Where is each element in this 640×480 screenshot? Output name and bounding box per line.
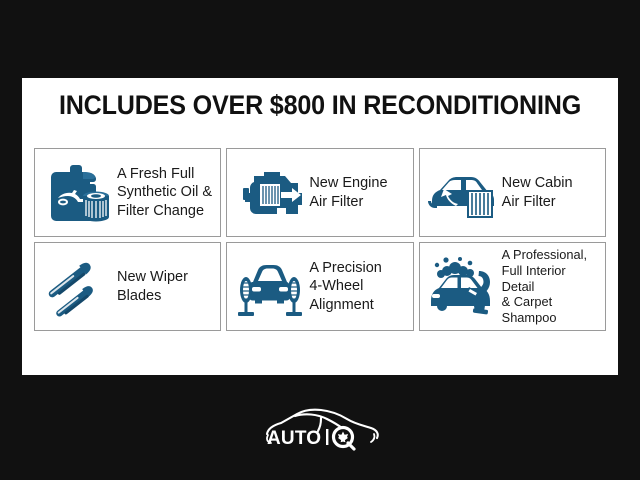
footer: AUTO — [0, 375, 640, 480]
feature-label-line: & Carpet — [502, 294, 599, 310]
feature-label-wiper-blades: New Wiper Blades — [115, 268, 214, 305]
feature-label-wheel-alignment: A Precision 4-Wheel Alignment — [307, 259, 406, 314]
wiper-blades-icon — [41, 250, 115, 324]
feature-label-line: Shampoo — [502, 310, 599, 326]
page-title: INCLUDES OVER $800 IN RECONDITIONING — [43, 90, 597, 121]
feature-label-line: New Cabin — [502, 174, 599, 192]
feature-cell-wiper-blades[interactable]: New Wiper Blades — [34, 242, 221, 331]
feature-cell-wheel-alignment[interactable]: A Precision 4-Wheel Alignment — [226, 242, 413, 331]
feature-label-line: Blades — [117, 287, 214, 305]
feature-cell-oil-filter-change[interactable]: A Fresh Full Synthetic Oil & Filter Chan… — [34, 148, 221, 237]
reconditioning-card: INCLUDES OVER $800 IN RECONDITIONING — [22, 78, 618, 375]
feature-label-interior-detail: A Professional, Full Interior Detail & C… — [500, 247, 599, 326]
logo-word-q — [334, 427, 355, 449]
feature-label-oil-filter-change: A Fresh Full Synthetic Oil & Filter Chan… — [115, 165, 214, 220]
feature-label-line: A Professional, — [502, 247, 599, 263]
oil-jug-and-filter-icon — [41, 156, 115, 230]
feature-label-line: Filter Change — [117, 202, 214, 220]
feature-label-engine-air-filter: New Engine Air Filter — [307, 174, 406, 211]
feature-label-line: Alignment — [309, 296, 406, 314]
logo-word-auto: AUTO — [267, 428, 321, 449]
feature-label-line: A Fresh Full — [117, 165, 214, 183]
car-alignment-lift-icon — [233, 250, 307, 324]
feature-cell-cabin-air-filter[interactable]: New Cabin Air Filter — [419, 148, 606, 237]
feature-label-line: A Precision — [309, 259, 406, 277]
feature-label-line: Air Filter — [502, 193, 599, 211]
feature-cell-interior-detail[interactable]: A Professional, Full Interior Detail & C… — [419, 242, 606, 331]
engine-air-filter-icon — [233, 156, 307, 230]
logo-divider — [326, 429, 328, 445]
feature-label-line: New Engine — [309, 174, 406, 192]
feature-label-line: New Wiper — [117, 268, 214, 286]
autoiq-car-logo[interactable]: AUTO — [259, 404, 381, 452]
feature-label-cabin-air-filter: New Cabin Air Filter — [500, 174, 599, 211]
feature-label-line: Air Filter — [309, 193, 406, 211]
car-cabin-air-filter-icon — [426, 156, 500, 230]
feature-label-line: 4-Wheel — [309, 277, 406, 295]
feature-cell-engine-air-filter[interactable]: New Engine Air Filter — [226, 148, 413, 237]
feature-label-line: Synthetic Oil & — [117, 183, 214, 201]
car-wash-vacuum-icon — [426, 250, 500, 324]
feature-label-line: Full Interior Detail — [502, 263, 599, 295]
banner-root: INCLUDES OVER $800 IN RECONDITIONING — [0, 0, 640, 480]
features-grid: A Fresh Full Synthetic Oil & Filter Chan… — [34, 148, 606, 331]
